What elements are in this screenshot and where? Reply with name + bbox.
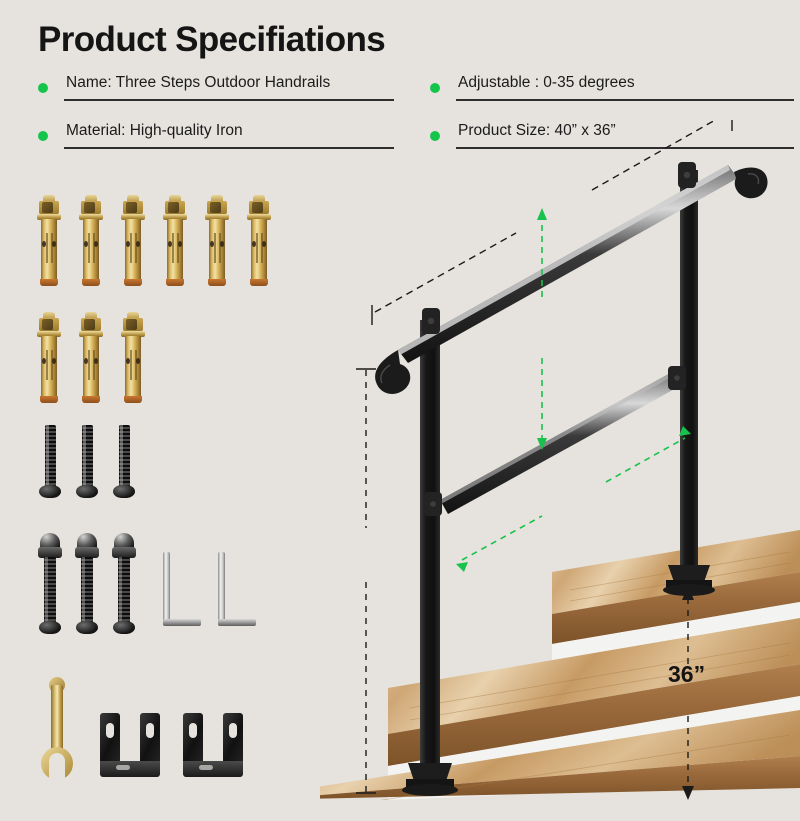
black-machine-screw xyxy=(38,425,62,503)
dome-cap-bolt xyxy=(37,533,63,637)
dimension-label-total-height: 36” xyxy=(668,661,705,688)
spec-underline xyxy=(64,99,394,101)
black-machine-screw xyxy=(75,425,99,503)
bullet-dot-icon xyxy=(38,83,48,93)
product-spec-page: Product Specifiations Name: Three Steps … xyxy=(0,0,800,800)
dim-36-line xyxy=(356,369,376,793)
expansion-anchor-bolt xyxy=(36,193,62,288)
spec-underline xyxy=(456,99,794,101)
dim-28-line xyxy=(456,426,691,572)
bullet-dot-icon xyxy=(38,131,48,141)
page-title: Product Specifiations xyxy=(38,22,385,57)
expansion-anchor-bolt xyxy=(120,193,146,288)
u-mounting-bracket xyxy=(183,713,243,777)
expansion-anchor-bolt xyxy=(78,310,104,405)
spec-label: Material: High-quality Iron xyxy=(66,122,243,140)
spec-label: Name: Three Steps Outdoor Handrails xyxy=(66,74,330,92)
spec-label: Adjustable : 0-35 degrees xyxy=(458,74,635,92)
hardware-parts-panel xyxy=(0,185,320,800)
expansion-anchor-bolt xyxy=(204,193,230,288)
expansion-anchor-bolt xyxy=(36,310,62,405)
allen-hex-key xyxy=(218,552,258,632)
bullet-dot-icon xyxy=(430,83,440,93)
expansion-anchor-bolt xyxy=(162,193,188,288)
expansion-anchor-bolt xyxy=(246,193,272,288)
dim-40-line xyxy=(372,120,732,325)
expansion-anchor-bolt xyxy=(78,193,104,288)
middle-rail xyxy=(424,366,686,516)
u-mounting-bracket xyxy=(100,713,160,777)
dome-cap-bolt xyxy=(111,533,137,637)
black-machine-screw xyxy=(112,425,136,503)
open-end-wrench xyxy=(40,677,74,782)
handrail-diagram: 40” 12” 28” 36” 16.5” VIVOSUN xyxy=(320,120,800,800)
expansion-anchor-bolt xyxy=(120,310,146,405)
dome-cap-bolt xyxy=(74,533,100,637)
allen-hex-key xyxy=(163,552,203,632)
dim-12-line xyxy=(537,208,547,450)
